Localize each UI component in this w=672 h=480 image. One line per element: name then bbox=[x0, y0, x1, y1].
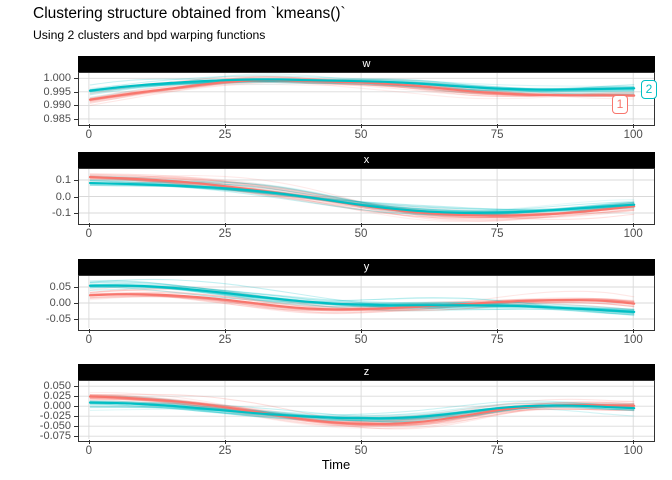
strip-header-x: x bbox=[78, 152, 655, 168]
y-tick-label-x-2: -0.1 bbox=[5, 207, 71, 219]
x-tick-label-w-3: 75 bbox=[477, 129, 517, 141]
x-tick-label-x-1: 25 bbox=[205, 228, 245, 240]
x-tick-mark-x-4 bbox=[633, 223, 634, 227]
x-tick-label-x-2: 50 bbox=[341, 228, 381, 240]
y-tick-label-w-0: 1.000 bbox=[5, 72, 71, 84]
y-tick-label-x-1: 0.0 bbox=[5, 191, 71, 203]
x-tick-mark-x-1 bbox=[225, 223, 226, 227]
x-tick-label-x-0: 0 bbox=[69, 228, 109, 240]
y-tick-mark-w-2 bbox=[74, 105, 78, 106]
facet-plot-z bbox=[79, 381, 654, 439]
x-tick-mark-y-0 bbox=[89, 329, 90, 333]
x-tick-mark-z-3 bbox=[497, 440, 498, 444]
y-tick-mark-z-4 bbox=[74, 426, 78, 427]
x-tick-label-z-0: 0 bbox=[69, 445, 109, 457]
x-tick-label-z-3: 75 bbox=[477, 445, 517, 457]
x-tick-mark-w-2 bbox=[361, 124, 362, 128]
strip-header-z: z bbox=[78, 364, 655, 380]
plot-panel-y bbox=[78, 275, 655, 331]
y-tick-label-y-0: 0.05 bbox=[5, 281, 71, 293]
y-tick-mark-w-3 bbox=[74, 119, 78, 120]
page-title: Clustering structure obtained from `kmea… bbox=[33, 5, 346, 23]
x-tick-mark-w-0 bbox=[89, 124, 90, 128]
x-tick-label-x-4: 100 bbox=[613, 228, 653, 240]
y-tick-label-w-3: 0.985 bbox=[5, 113, 71, 125]
strip-header-w: w bbox=[78, 56, 655, 72]
page-subtitle: Using 2 clusters and bpd warping functio… bbox=[33, 28, 265, 42]
y-tick-mark-w-0 bbox=[74, 78, 78, 79]
x-tick-mark-x-2 bbox=[361, 223, 362, 227]
y-tick-mark-z-2 bbox=[74, 406, 78, 407]
y-tick-mark-w-1 bbox=[74, 92, 78, 93]
y-tick-mark-z-3 bbox=[74, 416, 78, 417]
x-tick-mark-y-1 bbox=[225, 329, 226, 333]
strip-label-z: z bbox=[78, 364, 655, 380]
cluster-key-2[interactable]: 2 bbox=[641, 80, 657, 99]
y-tick-mark-x-0 bbox=[74, 180, 78, 181]
facet-plot-w bbox=[79, 73, 654, 123]
y-tick-mark-y-0 bbox=[74, 287, 78, 288]
y-tick-label-y-1: 0.00 bbox=[5, 297, 71, 309]
y-tick-mark-z-0 bbox=[74, 386, 78, 387]
y-tick-mark-y-2 bbox=[74, 319, 78, 320]
x-tick-mark-w-4 bbox=[633, 124, 634, 128]
y-tick-mark-y-1 bbox=[74, 303, 78, 304]
plot-panel-w bbox=[78, 72, 655, 126]
x-tick-label-w-4: 100 bbox=[613, 129, 653, 141]
x-tick-mark-z-1 bbox=[225, 440, 226, 444]
plot-panel-z bbox=[78, 380, 655, 442]
cluster-key-1[interactable]: 1 bbox=[612, 95, 628, 114]
y-tick-mark-z-1 bbox=[74, 396, 78, 397]
strip-label-w: w bbox=[78, 56, 655, 72]
y-tick-label-w-2: 0.990 bbox=[5, 99, 71, 111]
y-tick-label-y-2: -0.05 bbox=[5, 313, 71, 325]
strip-label-y: y bbox=[78, 259, 655, 275]
x-tick-label-z-4: 100 bbox=[613, 445, 653, 457]
x-tick-label-w-0: 0 bbox=[69, 129, 109, 141]
y-tick-label-x-0: 0.1 bbox=[5, 174, 71, 186]
plot-panel-x bbox=[78, 168, 655, 225]
x-tick-label-z-1: 25 bbox=[205, 445, 245, 457]
strip-label-x: x bbox=[78, 152, 655, 168]
chart-root: Clustering structure obtained from `kmea… bbox=[0, 0, 672, 480]
facet-plot-y bbox=[79, 276, 654, 328]
x-tick-label-w-1: 25 bbox=[205, 129, 245, 141]
x-tick-label-x-3: 75 bbox=[477, 228, 517, 240]
y-tick-mark-x-2 bbox=[74, 213, 78, 214]
x-tick-mark-w-1 bbox=[225, 124, 226, 128]
x-tick-mark-z-4 bbox=[633, 440, 634, 444]
x-tick-label-y-2: 50 bbox=[341, 334, 381, 346]
x-tick-label-y-4: 100 bbox=[613, 334, 653, 346]
x-tick-mark-y-4 bbox=[633, 329, 634, 333]
x-tick-mark-x-0 bbox=[89, 223, 90, 227]
x-tick-label-w-2: 50 bbox=[341, 129, 381, 141]
x-tick-label-y-0: 0 bbox=[69, 334, 109, 346]
y-tick-label-w-1: 0.995 bbox=[5, 86, 71, 98]
x-tick-label-y-3: 75 bbox=[477, 334, 517, 346]
facet-plot-x bbox=[79, 169, 654, 222]
y-tick-mark-z-5 bbox=[74, 436, 78, 437]
strip-header-y: y bbox=[78, 259, 655, 275]
x-tick-mark-z-2 bbox=[361, 440, 362, 444]
x-tick-mark-y-3 bbox=[497, 329, 498, 333]
x-tick-mark-x-3 bbox=[497, 223, 498, 227]
y-tick-label-z-5: -0.075 bbox=[5, 430, 71, 442]
x-tick-label-z-2: 50 bbox=[341, 445, 381, 457]
x-tick-mark-w-3 bbox=[497, 124, 498, 128]
y-tick-mark-x-1 bbox=[74, 197, 78, 198]
x-axis-title: Time bbox=[0, 457, 672, 472]
x-tick-mark-z-0 bbox=[89, 440, 90, 444]
x-tick-mark-y-2 bbox=[361, 329, 362, 333]
x-tick-label-y-1: 25 bbox=[205, 334, 245, 346]
